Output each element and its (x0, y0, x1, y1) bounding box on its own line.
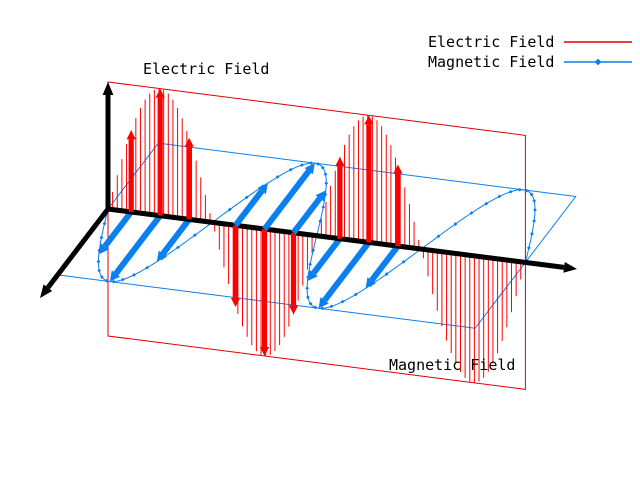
magnetic-field-label: Magnetic Field (389, 356, 515, 374)
legend-swatch-magnetic-line (562, 56, 634, 68)
legend-swatch-electric-line (562, 36, 634, 48)
diamond-marker-icon (595, 59, 602, 66)
legend-label-electric: Electric Field (428, 33, 554, 51)
em-wave-canvas (0, 0, 640, 480)
propagation-axis-arrowhead-icon (563, 262, 577, 273)
electric-field-label: Electric Field (143, 60, 269, 78)
legend-label-magnetic: Magnetic Field (428, 53, 554, 71)
legend-item-magnetic[interactable]: Magnetic Field (428, 53, 634, 71)
legend-item-electric[interactable]: Electric Field (428, 33, 634, 51)
vertical-axis-arrowhead-icon (103, 82, 114, 95)
magnetic-field-arrows-front (236, 163, 326, 233)
legend: Electric Field Magnetic Field (428, 33, 634, 71)
em-wave-figure: Electric Field Magnetic Field Electric F… (0, 0, 640, 480)
depth-axis (48, 209, 108, 288)
